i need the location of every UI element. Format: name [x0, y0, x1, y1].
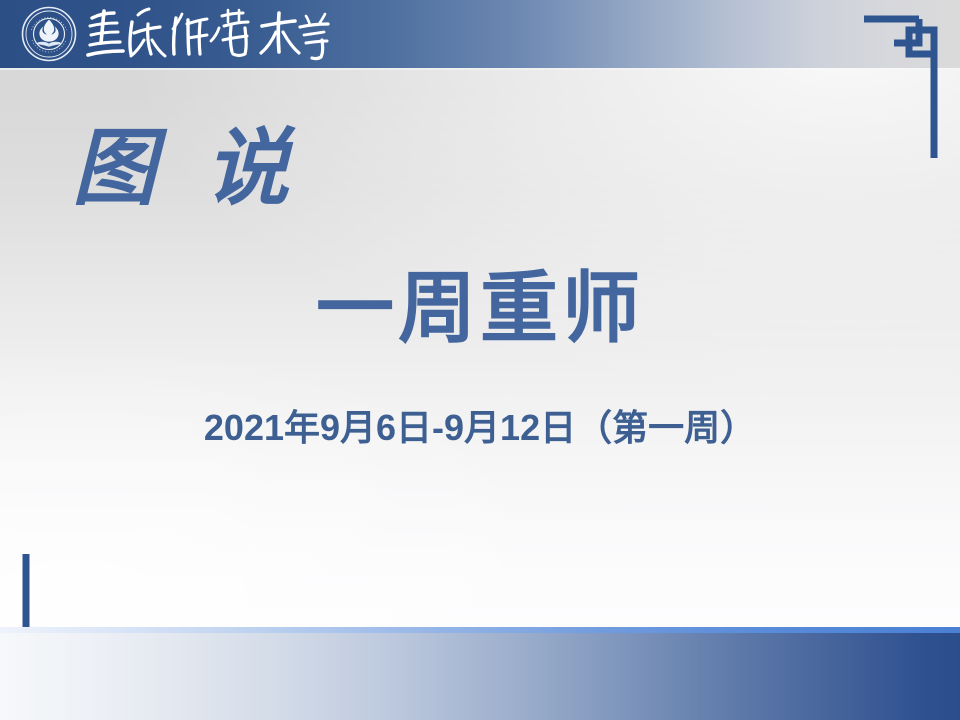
- eyebrow-title: 图 说: [72, 128, 372, 212]
- footer-gradient: [0, 633, 960, 720]
- title-slide: 图 说 一周重师 2021年9月6日-9月12日（第一周）: [0, 0, 960, 720]
- university-wordmark-icon: [82, 2, 332, 66]
- header-underline: [0, 68, 960, 70]
- slide-background: [0, 0, 960, 720]
- university-seal-icon: [21, 6, 77, 62]
- footer-band: [0, 627, 960, 720]
- chinese-meander-corner-icon: [864, 8, 948, 158]
- date-subtitle: 2021年9月6日-9月12日（第一周）: [0, 406, 960, 449]
- page-title: 一周重师: [0, 268, 960, 350]
